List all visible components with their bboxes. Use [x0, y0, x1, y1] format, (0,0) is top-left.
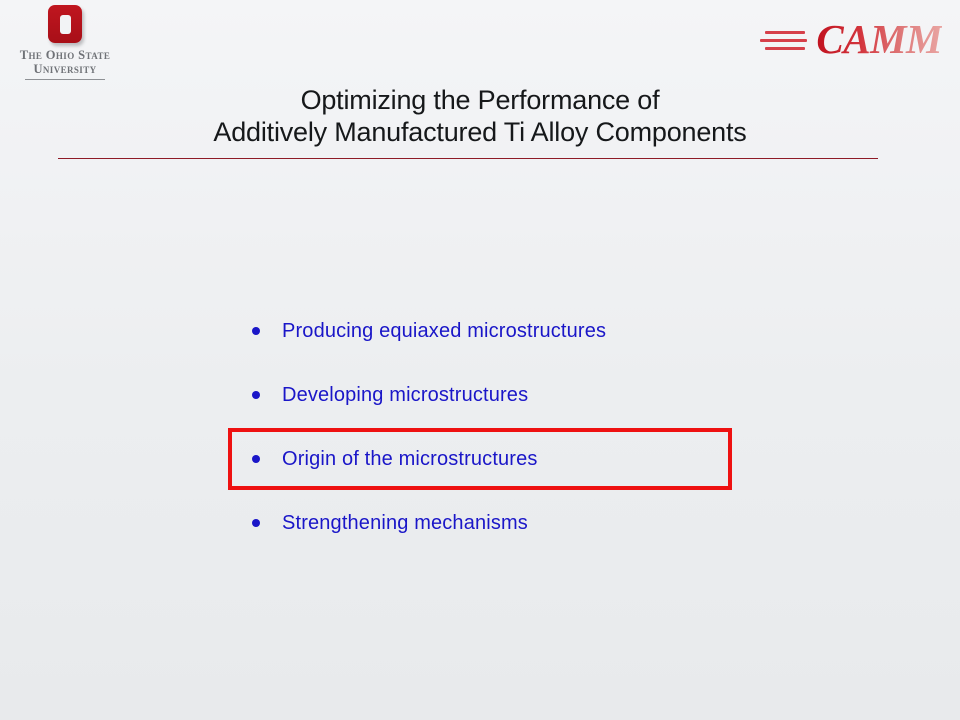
block-o-icon	[0, 4, 130, 44]
ohio-state-wordmark: The Ohio State University	[0, 48, 130, 80]
bullet-dot-icon	[252, 327, 260, 335]
list-item: Developing microstructures	[252, 382, 852, 446]
list-item-label: Producing equiaxed microstructures	[282, 318, 606, 344]
list-item-label: Origin of the microstructures	[282, 446, 538, 472]
camm-logo: CAMM	[760, 16, 942, 62]
page-title-line2: Additively Manufactured Ti Alloy Compone…	[0, 116, 960, 148]
bullet-dot-icon	[252, 455, 260, 463]
camm-bar-middle	[760, 39, 807, 42]
page-title: Optimizing the Performance of Additively…	[0, 84, 960, 148]
ohio-state-wordmark-line1: The Ohio State	[0, 48, 130, 62]
list-item-label: Developing microstructures	[282, 382, 528, 408]
camm-bar-top	[765, 31, 805, 34]
list-item: Strengthening mechanisms	[252, 510, 852, 574]
camm-bars-icon	[760, 28, 807, 50]
title-divider	[58, 158, 878, 159]
list-item: Origin of the microstructures	[252, 446, 852, 510]
block-o-shape	[48, 5, 82, 43]
agenda-list: Producing equiaxed microstructures Devel…	[252, 318, 852, 574]
slide-canvas: The Ohio State University CAMM Optimizin…	[0, 0, 960, 720]
page-title-line1: Optimizing the Performance of	[0, 84, 960, 116]
bullet-dot-icon	[252, 519, 260, 527]
ohio-state-wordmark-underline	[25, 79, 105, 80]
camm-bar-bottom	[765, 47, 805, 50]
ohio-state-logo: The Ohio State University	[0, 4, 130, 84]
list-item: Producing equiaxed microstructures	[252, 318, 852, 382]
list-item-label: Strengthening mechanisms	[282, 510, 528, 536]
camm-wordmark: CAMM	[816, 19, 942, 60]
ohio-state-wordmark-line2: University	[0, 62, 130, 76]
bullet-dot-icon	[252, 391, 260, 399]
